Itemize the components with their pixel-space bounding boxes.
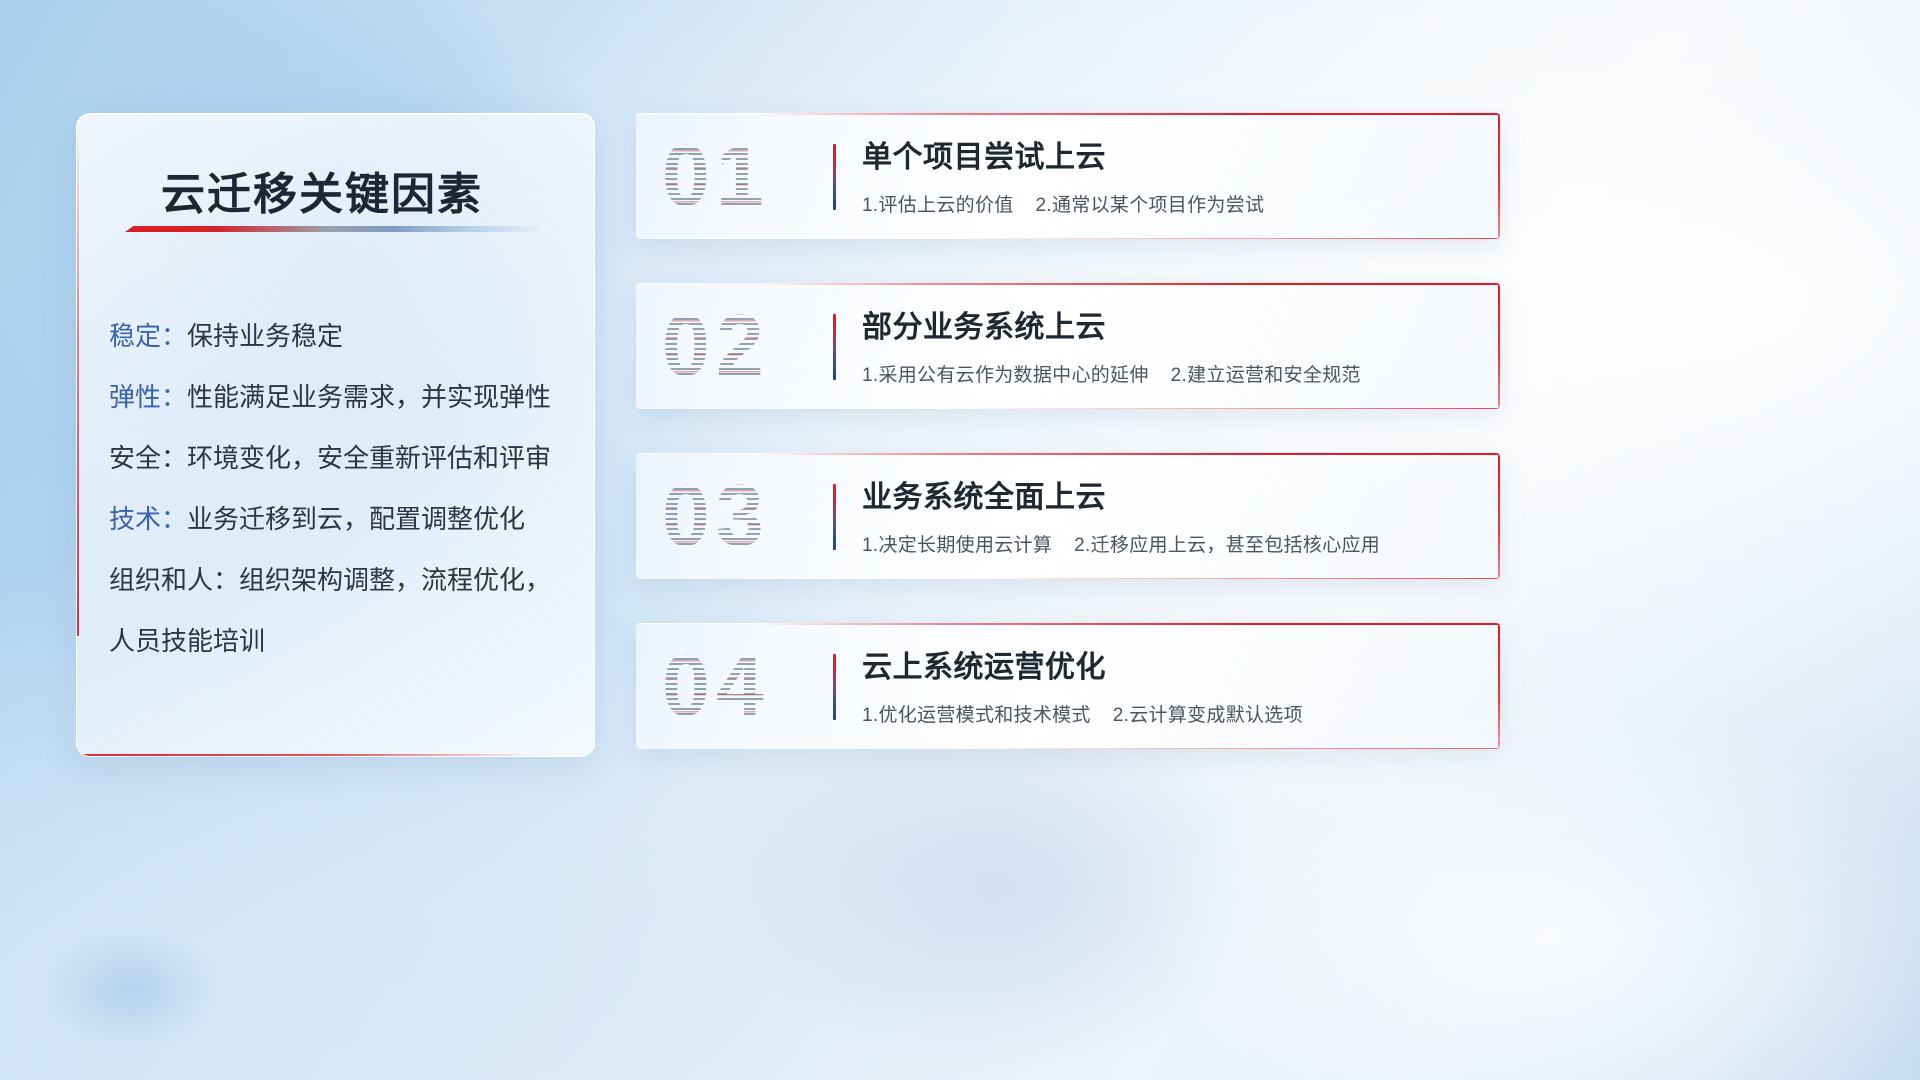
panel-left-accent-line <box>77 121 79 636</box>
key-factor-label: 稳定： <box>109 321 187 351</box>
stage-title: 部分业务系统上云 <box>862 309 1476 347</box>
key-factors-list: 稳定：保持业务稳定弹性：性能满足业务需求，并实现弹性安全：环境变化，安全重新评估… <box>109 306 570 672</box>
stage-number-watermark: 01 <box>662 133 770 219</box>
key-factor-text: 性能满足业务需求，并实现弹性 <box>187 382 551 412</box>
card-bottom-accent-line <box>964 748 1500 749</box>
title-underline-gradient <box>125 226 545 232</box>
key-factor-item: 安全：环境变化，安全重新评估和评审 <box>109 428 570 489</box>
card-divider-bar <box>833 484 836 550</box>
stage-point-1: 1.采用公有云作为数据中心的延伸 <box>862 365 1149 386</box>
stage-number-watermark: 03 <box>662 473 770 559</box>
card-divider-bar <box>833 314 836 380</box>
stage-number-watermark-tint: 01 <box>662 133 770 219</box>
stage-number-watermark-tint: 04 <box>662 643 770 729</box>
stage-point-2: 2.建立运营和安全规范 <box>1171 365 1361 386</box>
card-divider-bar <box>833 654 836 720</box>
key-factor-label: 技术： <box>109 504 187 534</box>
card-content: 单个项目尝试上云1.评估上云的价值2.通常以某个项目作为尝试 <box>862 139 1476 217</box>
stage-number-watermark-tint: 03 <box>662 473 770 559</box>
stage-description: 1.优化运营模式和技术模式2.云计算变成默认选项 <box>862 700 1476 727</box>
card-content: 部分业务系统上云1.采用公有云作为数据中心的延伸2.建立运营和安全规范 <box>862 309 1476 387</box>
key-factor-item: 人员技能培训 <box>109 611 570 672</box>
key-factor-label: 安全： <box>109 443 187 473</box>
card-top-accent-line <box>757 283 1500 285</box>
card-right-accent-line <box>1498 113 1500 239</box>
card-top-accent-line <box>757 623 1500 625</box>
stage-point-1: 1.决定长期使用云计算 <box>862 535 1052 556</box>
stage-title: 业务系统全面上云 <box>862 479 1476 517</box>
card-bottom-accent-line <box>964 408 1500 409</box>
key-factor-text: 环境变化，安全重新评估和评审 <box>187 443 551 473</box>
stage-point-2: 2.迁移应用上云，甚至包括核心应用 <box>1074 535 1380 556</box>
panel-bottom-accent-line <box>79 754 538 756</box>
stage-description: 1.决定长期使用云计算2.迁移应用上云，甚至包括核心应用 <box>862 530 1476 557</box>
stage-point-1: 1.优化运营模式和技术模式 <box>862 705 1091 726</box>
stage-description: 1.评估上云的价值2.通常以某个项目作为尝试 <box>862 190 1476 217</box>
card-bottom-accent-line <box>964 578 1500 579</box>
stage-card[interactable]: 0202部分业务系统上云1.采用公有云作为数据中心的延伸2.建立运营和安全规范 <box>636 283 1500 409</box>
card-content: 业务系统全面上云1.决定长期使用云计算2.迁移应用上云，甚至包括核心应用 <box>862 479 1476 557</box>
stage-description: 1.采用公有云作为数据中心的延伸2.建立运营和安全规范 <box>862 360 1476 387</box>
key-factor-label: 组织和人： <box>109 565 239 595</box>
key-factor-item: 弹性：性能满足业务需求，并实现弹性 <box>109 367 570 428</box>
card-right-accent-line <box>1498 623 1500 749</box>
stage-number-watermark-tint: 02 <box>662 303 770 389</box>
slide-canvas: 云迁移关键因素 稳定：保持业务稳定弹性：性能满足业务需求，并实现弹性安全：环境变… <box>0 0 1920 1080</box>
card-top-accent-line <box>757 453 1500 455</box>
key-factor-item: 技术：业务迁移到云，配置调整优化 <box>109 489 570 550</box>
key-factor-text: 业务迁移到云，配置调整优化 <box>187 504 525 534</box>
card-top-accent-line <box>757 113 1500 115</box>
stage-title: 单个项目尝试上云 <box>862 139 1476 177</box>
card-right-accent-line <box>1498 453 1500 579</box>
stage-number-watermark: 04 <box>662 643 770 729</box>
stage-number-watermark: 02 <box>662 303 770 389</box>
key-factor-text: 人员技能培训 <box>109 626 265 656</box>
card-content: 云上系统运营优化1.优化运营模式和技术模式2.云计算变成默认选项 <box>862 649 1476 727</box>
page-title: 云迁移关键因素 <box>161 158 483 222</box>
stage-card[interactable]: 0303业务系统全面上云1.决定长期使用云计算2.迁移应用上云，甚至包括核心应用 <box>636 453 1500 579</box>
migration-stages-list: 0101单个项目尝试上云1.评估上云的价值2.通常以某个项目作为尝试0202部分… <box>636 113 1500 749</box>
stage-card[interactable]: 0101单个项目尝试上云1.评估上云的价值2.通常以某个项目作为尝试 <box>636 113 1500 239</box>
key-factors-panel: 云迁移关键因素 稳定：保持业务稳定弹性：性能满足业务需求，并实现弹性安全：环境变… <box>76 113 595 757</box>
stage-point-1: 1.评估上云的价值 <box>862 195 1014 216</box>
stage-card[interactable]: 0404云上系统运营优化1.优化运营模式和技术模式2.云计算变成默认选项 <box>636 623 1500 749</box>
key-factor-text: 保持业务稳定 <box>187 321 343 351</box>
stage-point-2: 2.云计算变成默认选项 <box>1113 705 1303 726</box>
card-bottom-accent-line <box>964 238 1500 239</box>
card-divider-bar <box>833 144 836 210</box>
key-factor-item: 稳定：保持业务稳定 <box>109 306 570 367</box>
card-right-accent-line <box>1498 283 1500 409</box>
stage-title: 云上系统运营优化 <box>862 649 1476 687</box>
key-factor-item: 组织和人：组织架构调整，流程优化， <box>109 550 570 611</box>
stage-point-2: 2.通常以某个项目作为尝试 <box>1036 195 1265 216</box>
key-factor-label: 弹性： <box>109 382 187 412</box>
key-factor-text: 组织架构调整，流程优化， <box>239 565 551 595</box>
